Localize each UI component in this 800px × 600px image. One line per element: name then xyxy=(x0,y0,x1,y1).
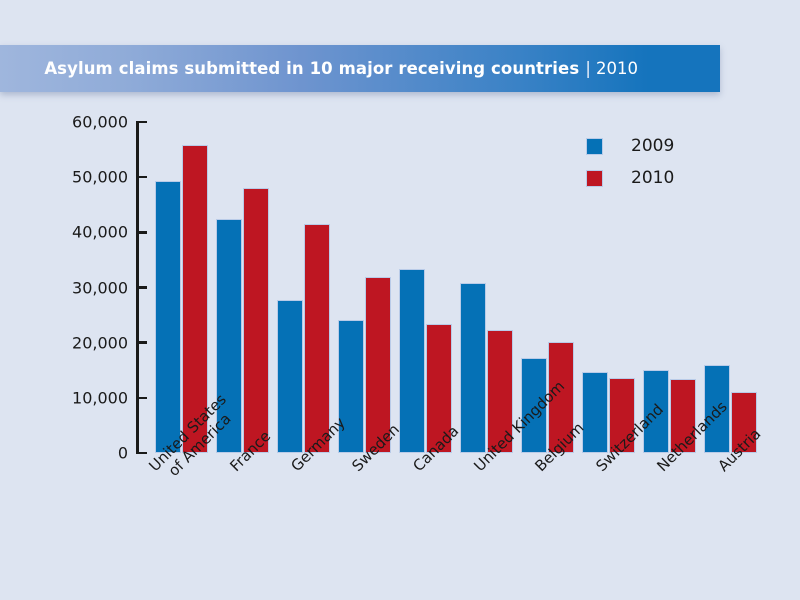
legend-swatch-2010-icon xyxy=(586,170,603,187)
bar-group xyxy=(460,122,513,453)
y-tick-label: 40,000 xyxy=(72,223,128,242)
bar-2009 xyxy=(277,300,303,453)
y-tick-label: 10,000 xyxy=(72,388,128,407)
legend-label-2009: 2009 xyxy=(631,136,674,156)
bar-2010 xyxy=(304,224,330,453)
y-tick-label: 20,000 xyxy=(72,333,128,352)
y-tick-label: 30,000 xyxy=(72,278,128,297)
legend-swatch-2009-icon xyxy=(586,138,603,155)
bar-2009 xyxy=(399,269,425,453)
legend-item-2010: 2010 xyxy=(586,162,674,194)
bar-group xyxy=(277,122,330,453)
bar-2009 xyxy=(155,181,181,453)
title-separator: | xyxy=(585,59,591,79)
asylum-claims-bar-chart: Asylum claims submitted in 10 major rece… xyxy=(0,0,800,600)
legend-label-2010: 2010 xyxy=(631,168,674,188)
bar-group xyxy=(338,122,391,453)
legend-item-2009: 2009 xyxy=(586,130,674,162)
bar-2009 xyxy=(460,283,486,453)
y-tick-label: 60,000 xyxy=(72,113,128,132)
bar-2010 xyxy=(243,188,269,453)
y-axis-labels: 60,00050,00040,00030,00020,00010,0000 xyxy=(0,0,128,600)
bar-group xyxy=(155,122,208,453)
title-year: 2010 xyxy=(596,59,638,78)
bar-2009 xyxy=(582,372,608,453)
y-tick-label: 50,000 xyxy=(72,168,128,187)
bar-group xyxy=(399,122,452,453)
chart-legend: 2009 2010 xyxy=(586,130,674,194)
y-tick-label: 0 xyxy=(118,444,128,463)
